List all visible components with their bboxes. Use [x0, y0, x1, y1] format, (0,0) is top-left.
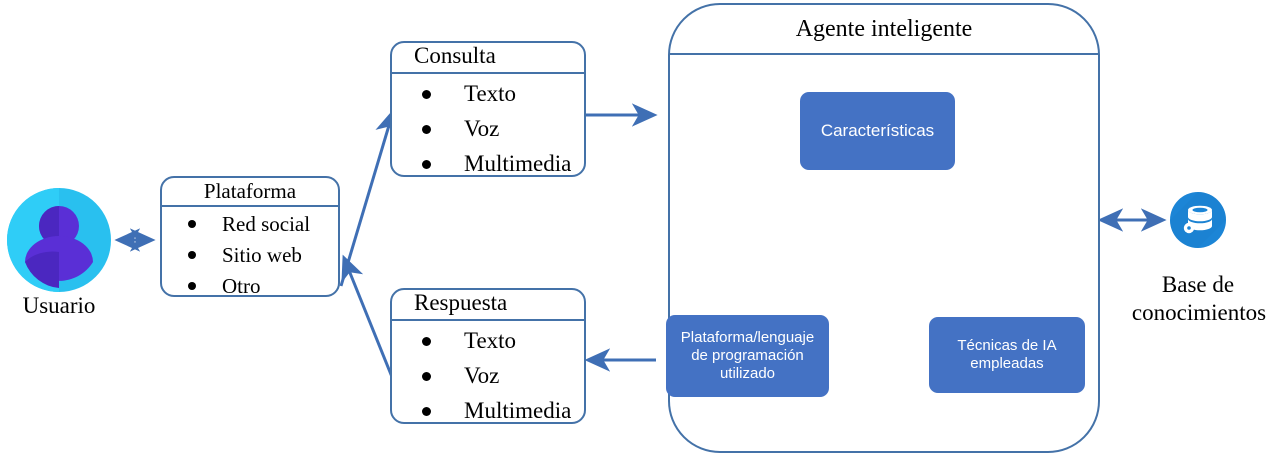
plataforma-divider: [162, 205, 338, 207]
usuario-label: Usuario: [0, 293, 118, 319]
list-item[interactable]: Multimedia: [392, 148, 584, 179]
list-item[interactable]: Red social: [162, 210, 338, 238]
consulta-list: Texto Voz Multimedia: [392, 78, 584, 179]
arrow-respuesta-plataforma: [344, 258, 392, 377]
agente-title: Agente inteligente: [670, 5, 1098, 43]
list-item[interactable]: Texto: [392, 325, 584, 356]
plataforma-lenguaje-box[interactable]: Plataforma/lenguaje de programación util…: [666, 315, 829, 397]
agente-divider: [670, 53, 1098, 55]
list-item[interactable]: Voz: [392, 113, 584, 144]
diagram-canvas: Usuario Plataforma Red social Sitio web …: [0, 0, 1271, 457]
respuesta-list: Texto Voz Multimedia: [392, 325, 584, 426]
list-item[interactable]: Otro: [162, 272, 338, 300]
consulta-box[interactable]: Consulta Texto Voz Multimedia: [390, 41, 586, 177]
base-conocimientos-label-line1: Base de: [1131, 272, 1265, 298]
respuesta-title: Respuesta: [392, 290, 584, 317]
plataforma-lenguaje-label: Plataforma/lenguaje de programación util…: [673, 329, 822, 384]
list-item[interactable]: Texto: [392, 78, 584, 109]
tecnicas-ia-label: Técnicas de IA empleadas: [939, 337, 1075, 374]
base-conocimientos-label-line2: conocimientos: [1127, 300, 1271, 326]
caracteristicas-label: Características: [821, 121, 934, 142]
respuesta-divider: [392, 319, 584, 321]
user-avatar-icon: [7, 188, 111, 292]
plataforma-box[interactable]: Plataforma Red social Sitio web Otro: [160, 176, 340, 297]
caracteristicas-box[interactable]: Características: [800, 92, 955, 170]
consulta-divider: [392, 72, 584, 74]
respuesta-box[interactable]: Respuesta Texto Voz Multimedia: [390, 288, 586, 424]
consulta-title: Consulta: [392, 43, 584, 70]
arrow-plataforma-consulta: [341, 112, 393, 286]
list-item[interactable]: Voz: [392, 360, 584, 391]
tecnicas-ia-box[interactable]: Técnicas de IA empleadas: [929, 317, 1085, 393]
list-item[interactable]: Sitio web: [162, 241, 338, 269]
database-icon: [1170, 192, 1226, 248]
plataforma-title: Plataforma: [162, 178, 338, 204]
plataforma-list: Red social Sitio web Otro: [162, 210, 338, 300]
list-item[interactable]: Multimedia: [392, 395, 584, 426]
